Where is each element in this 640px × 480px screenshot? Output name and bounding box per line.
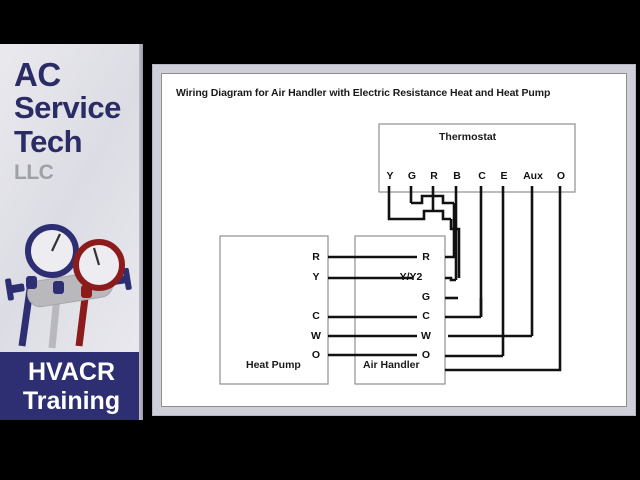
hvacr-training-block: HVACR Training — [0, 352, 143, 420]
heat-pump-terminal-c: C — [310, 310, 322, 322]
letterbox-bar-bottom — [0, 420, 640, 480]
video-frame: AC Service Tech LLC — [0, 0, 640, 480]
wiring-schematic — [162, 74, 628, 408]
air-handler-terminal-w: W — [419, 330, 433, 342]
diagram-canvas: Wiring Diagram for Air Handler with Elec… — [161, 73, 627, 407]
thermostat-terminal-y: Y — [384, 170, 396, 182]
air-handler-terminal-o: O — [420, 349, 432, 361]
hvacr-label: HVACR — [0, 360, 143, 385]
thermostat-terminal-e: E — [498, 170, 510, 182]
heat-pump-terminal-o: O — [310, 349, 322, 361]
air-handler-terminal-g: G — [420, 291, 432, 303]
thermostat-label: Thermostat — [439, 131, 496, 143]
training-label: Training — [0, 389, 143, 414]
air-handler-label: Air Handler — [363, 359, 420, 371]
thermostat-terminal-b: B — [451, 170, 463, 182]
brand-panel: AC Service Tech LLC — [0, 44, 143, 420]
brand-line-ac: AC — [14, 58, 61, 91]
letterbox-bar-top — [0, 0, 640, 44]
brand-line-tech: Tech — [14, 126, 82, 157]
heat-pump-label: Heat Pump — [246, 359, 301, 371]
heat-pump-terminal-w: W — [309, 330, 323, 342]
brand-panel-edge — [139, 44, 143, 420]
thermostat-terminal-g: G — [406, 170, 418, 182]
air-handler-terminal-c: C — [420, 310, 432, 322]
brand-line-service: Service — [14, 92, 121, 123]
heat-pump-terminal-y: Y — [310, 271, 322, 283]
air-handler-terminal-r: R — [420, 251, 432, 263]
thermostat-terminal-r: R — [428, 170, 440, 182]
thermostat-terminal-o: O — [555, 170, 567, 182]
diagram-frame: Wiring Diagram for Air Handler with Elec… — [152, 64, 636, 416]
air-handler-terminal-y-y2: Y/Y2 — [390, 271, 432, 283]
manifold-gauge-set-icon — [0, 224, 143, 352]
thermostat-terminal-c: C — [476, 170, 488, 182]
brand-line-llc: LLC — [14, 162, 53, 183]
heat-pump-terminal-r: R — [310, 251, 322, 263]
thermostat-terminal-aux: Aux — [520, 170, 546, 182]
